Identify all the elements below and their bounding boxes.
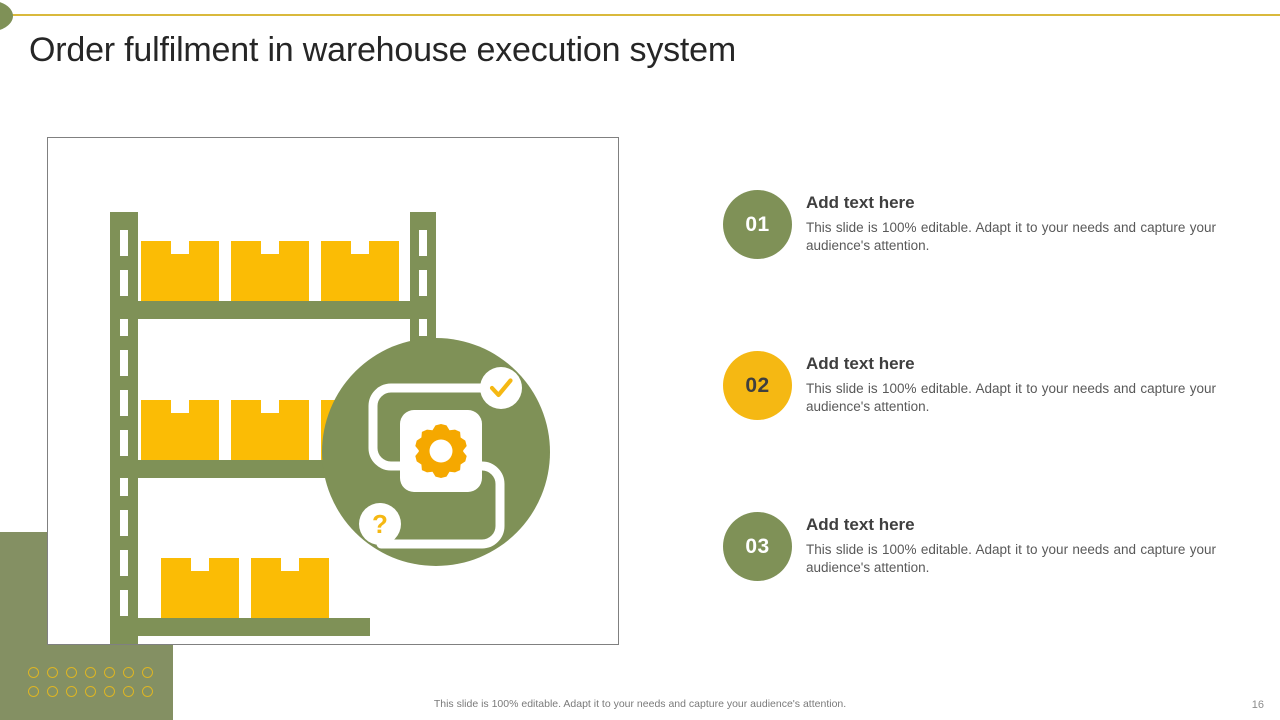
bullet-body: This slide is 100% editable. Adapt it to… xyxy=(806,541,1216,577)
decorative-dot xyxy=(123,667,134,678)
bullet-heading: Add text here xyxy=(806,194,1216,213)
footer-note: This slide is 100% editable. Adapt it to… xyxy=(0,698,1280,710)
decorative-dot xyxy=(123,686,134,697)
question-mark-icon: ? xyxy=(372,509,388,539)
question-badge: ? xyxy=(359,503,401,545)
process-badge: ? xyxy=(322,338,550,566)
decorative-dot xyxy=(47,667,58,678)
list-item[interactable]: 03 Add text here This slide is 100% edit… xyxy=(723,512,1223,581)
decorative-dot xyxy=(28,686,39,697)
decorative-dot xyxy=(66,686,77,697)
warehouse-illustration: ? xyxy=(48,138,620,646)
decorative-dot xyxy=(142,667,153,678)
bullet-heading: Add text here xyxy=(806,355,1216,374)
gear-icon xyxy=(415,424,466,478)
box-group-row-1 xyxy=(141,241,399,301)
bullet-text-block: Add text here This slide is 100% editabl… xyxy=(806,351,1216,415)
check-badge xyxy=(480,367,522,409)
bullet-body: This slide is 100% editable. Adapt it to… xyxy=(806,219,1216,255)
page-title: Order fulfilment in warehouse execution … xyxy=(29,29,1179,72)
header-rule xyxy=(0,14,1280,16)
bullet-list: 01 Add text here This slide is 100% edit… xyxy=(723,190,1223,581)
page-number: 16 xyxy=(1252,699,1264,711)
bullet-text-block: Add text here This slide is 100% editabl… xyxy=(806,512,1216,576)
bullet-number-badge: 03 xyxy=(723,512,792,581)
box-group-row-3 xyxy=(161,558,329,618)
decorative-dot xyxy=(47,686,58,697)
list-item[interactable]: 01 Add text here This slide is 100% edit… xyxy=(723,190,1223,259)
bullet-number-badge: 02 xyxy=(723,351,792,420)
corner-semicircle-decoration xyxy=(0,0,13,32)
bullet-heading: Add text here xyxy=(806,516,1216,535)
decorative-dot xyxy=(66,667,77,678)
bullet-text-block: Add text here This slide is 100% editabl… xyxy=(806,190,1216,254)
decorative-dot xyxy=(104,686,115,697)
decorative-dot xyxy=(142,686,153,697)
bullet-body: This slide is 100% editable. Adapt it to… xyxy=(806,380,1216,416)
decorative-dot xyxy=(104,667,115,678)
illustration-frame: ? xyxy=(47,137,619,645)
decorative-dot xyxy=(28,667,39,678)
bullet-number-badge: 01 xyxy=(723,190,792,259)
list-item[interactable]: 02 Add text here This slide is 100% edit… xyxy=(723,351,1223,420)
slide-canvas: Order fulfilment in warehouse execution … xyxy=(0,0,1280,720)
decorative-dot xyxy=(85,686,96,697)
decorative-dot xyxy=(85,667,96,678)
